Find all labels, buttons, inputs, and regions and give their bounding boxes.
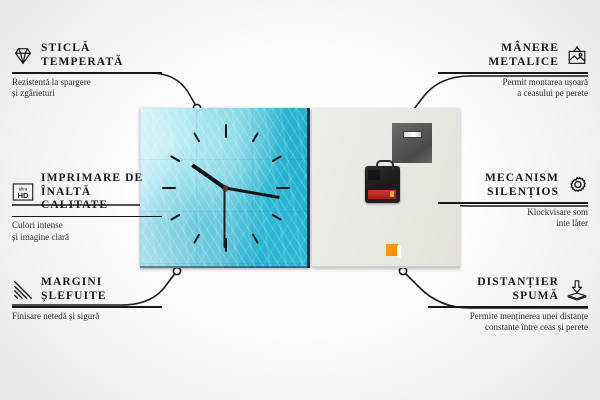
clock-face — [140, 108, 310, 268]
product-image — [140, 108, 460, 268]
clock-hour-hand — [191, 163, 226, 189]
polished-edges-icon — [12, 279, 34, 301]
callout-rule — [428, 306, 588, 308]
connector-dot-margini-slefuite — [173, 267, 180, 274]
callout-rule — [438, 202, 588, 204]
callout-sticla-temperata: STICLĂ TEMPERATĂ Rezistentă la spargere … — [12, 42, 162, 100]
callout-title: STICLĂ TEMPERATĂ — [41, 42, 124, 69]
diamond-icon — [12, 45, 34, 67]
mechanism-dial — [368, 170, 380, 180]
callout-rule — [12, 72, 162, 74]
arrow-down-pad-icon — [566, 279, 588, 301]
callout-subtitle: Rezistentă la spargere și zgârieturi — [12, 77, 162, 100]
metal-hanger — [392, 123, 432, 163]
callout-title: MÂNERE METALICE — [488, 42, 559, 69]
callout-title: DISTANȚIER SPUMĂ — [477, 276, 559, 303]
callout-subtitle: Permite menținerea unei distanțe constan… — [428, 311, 588, 334]
callout-margini-slefuite: MARGINI ȘLEFUITE Finisare netedă și sigu… — [12, 276, 162, 322]
hanger-slot — [403, 131, 422, 138]
ultra-hd-icon: ultra HD — [12, 181, 34, 203]
callout-rule — [12, 306, 162, 308]
glass-edge — [307, 108, 310, 268]
glass-bottom-edge — [140, 266, 310, 268]
callout-subtitle: Finisare netedă și sigură — [12, 311, 162, 323]
callout-distantier-spuma: DISTANȚIER SPUMĂ Permite menținerea unei… — [428, 276, 588, 334]
callout-title: MECANISM SILENȚIOS — [485, 172, 559, 199]
callout-imprimare-hd: ultra HD IMPRIMARE DE ÎNALTĂ CALITATE Cu… — [12, 172, 162, 243]
callout-subtitle: Klockvisare som inte låter — [438, 207, 588, 230]
svg-text:HD: HD — [18, 191, 29, 200]
infographic-canvas: STICLĂ TEMPERATĂ Rezistentă la spargere … — [0, 0, 600, 400]
clock-minute-hand — [225, 187, 280, 200]
picture-hanger-icon — [566, 45, 588, 67]
callout-subtitle: Permit montarea ușoară a ceasului pe per… — [438, 77, 588, 100]
callout-rule — [438, 72, 588, 74]
foam-spacer — [386, 244, 398, 256]
callout-subtitle: Culori intense și imagine clară — [12, 220, 162, 243]
callout-title: IMPRIMARE DE ÎNALTĂ CALITATE — [41, 172, 162, 213]
connector-dot-distantier-spuma — [399, 267, 406, 274]
battery — [368, 190, 396, 199]
mechanism-loop — [376, 160, 394, 170]
gear-icon — [566, 175, 588, 197]
clock-tick-markers — [140, 108, 310, 268]
callout-title: MARGINI ȘLEFUITE — [41, 276, 107, 303]
clock-second-hand — [224, 188, 226, 248]
callout-manere-metalice: MÂNERE METALICE Permit montarea ușoară a… — [438, 42, 588, 100]
clock-mechanism — [365, 166, 400, 203]
callout-rule — [12, 216, 162, 218]
clock-center-pin — [223, 186, 228, 191]
callout-mecanism-silentios: MECANISM SILENȚIOS Klockvisare som inte … — [438, 172, 588, 230]
